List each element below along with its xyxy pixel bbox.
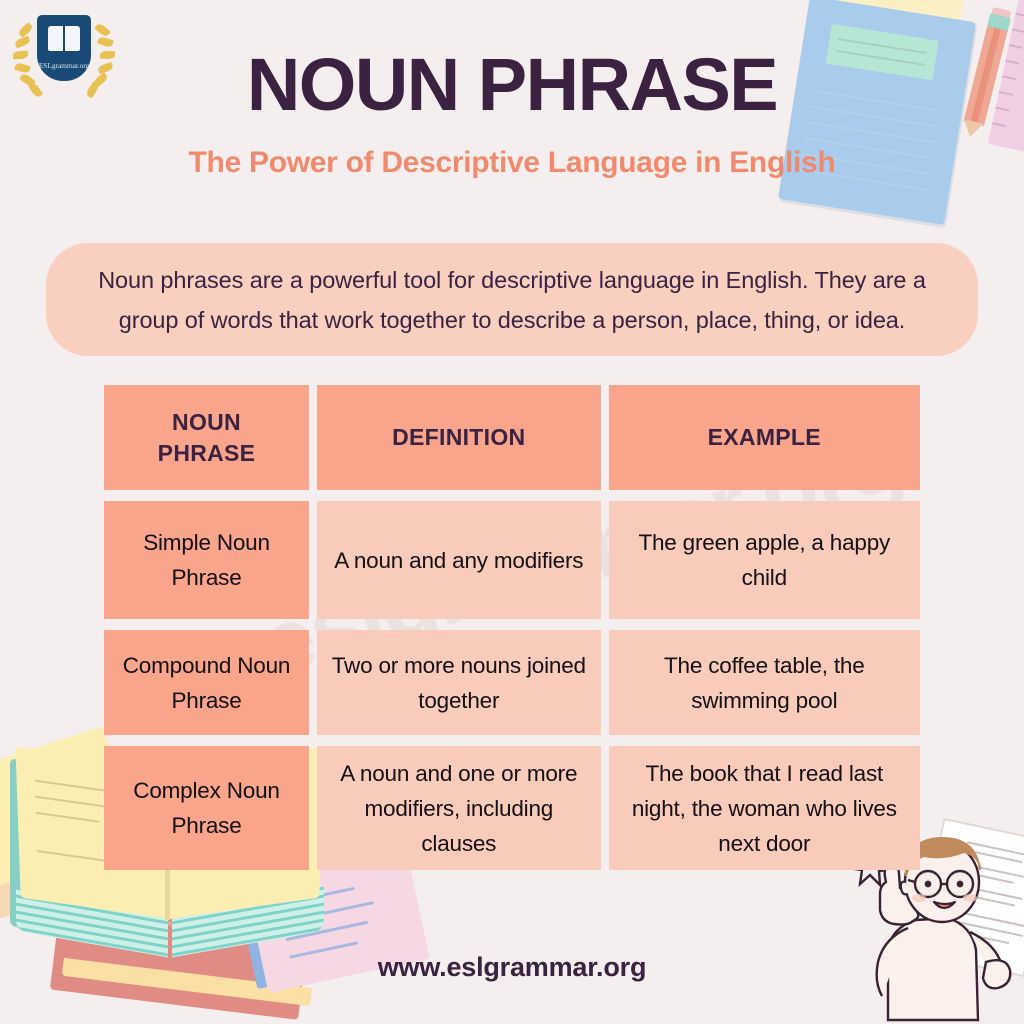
noun-phrase-table: NOUN PHRASE DEFINITION EXAMPLE Simple No… <box>104 385 920 870</box>
table-row: Compound Noun Phrase Two or more nouns j… <box>104 630 920 735</box>
column-header-definition: DEFINITION <box>317 385 601 490</box>
table-row: Complex Noun Phrase A noun and one or mo… <box>104 746 920 870</box>
page-subtitle: The Power of Descriptive Language in Eng… <box>0 146 1024 180</box>
column-header-noun-phrase: NOUN PHRASE <box>104 385 309 490</box>
cell-example: The green apple, a happy child <box>609 501 920 619</box>
page-title: NOUN PHRASE <box>0 42 1024 127</box>
cell-example: The book that I read last night, the wom… <box>609 746 920 870</box>
table-header-row: NOUN PHRASE DEFINITION EXAMPLE <box>104 385 920 490</box>
cell-type: Simple Noun Phrase <box>104 501 309 619</box>
cell-definition: Two or more nouns joined together <box>317 630 601 735</box>
infographic-page: eslgrammar.org <box>0 0 1024 1024</box>
cell-type: Complex Noun Phrase <box>104 746 309 870</box>
cell-definition: A noun and one or more modifiers, includ… <box>317 746 601 870</box>
intro-text: Noun phrases are a powerful tool for des… <box>72 260 952 340</box>
footer-url[interactable]: www.eslgrammar.org <box>0 952 1024 983</box>
column-header-line2: PHRASE <box>158 438 256 469</box>
intro-box: Noun phrases are a powerful tool for des… <box>46 243 978 356</box>
cell-example: The coffee table, the swimming pool <box>609 630 920 735</box>
column-header-example: EXAMPLE <box>609 385 920 490</box>
column-header-line1: NOUN <box>158 407 256 438</box>
cell-type: Compound Noun Phrase <box>104 630 309 735</box>
content-layer: ESLgrammar.org NOUN PHRASE The Power of … <box>0 0 1024 1024</box>
table-row: Simple Noun Phrase A noun and any modifi… <box>104 501 920 619</box>
cell-definition: A noun and any modifiers <box>317 501 601 619</box>
